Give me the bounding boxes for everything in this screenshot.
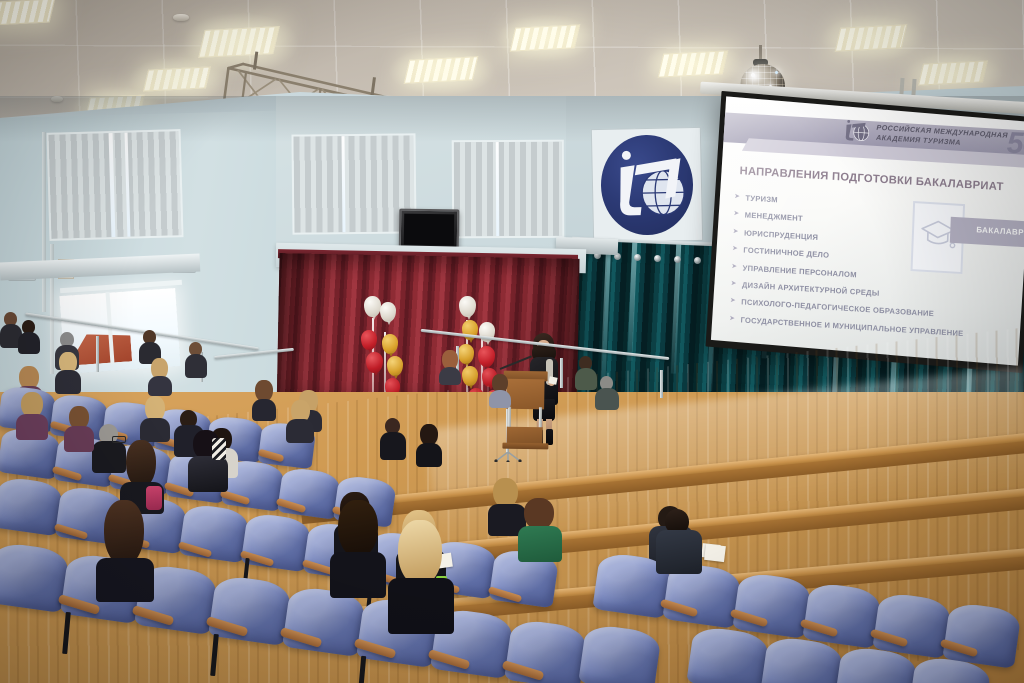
window-blinds-upper-right <box>452 140 565 239</box>
person-body <box>55 370 81 394</box>
person-body <box>188 456 228 492</box>
window-blinds-upper-center <box>291 133 416 234</box>
curtain-grommet <box>654 255 661 262</box>
person-hair <box>104 500 144 566</box>
blind-light-gap <box>496 142 499 236</box>
audience-member <box>252 380 276 418</box>
person-body <box>416 443 442 467</box>
curtain-highlight <box>600 242 611 383</box>
audience-member <box>16 392 48 438</box>
wall-pipe <box>42 132 46 312</box>
audience-member <box>188 430 228 490</box>
railing-post <box>96 336 99 372</box>
balloon-white <box>364 296 381 317</box>
person-body <box>380 432 406 460</box>
slide-surface: РОССИЙСКАЯ МЕЖДУНАРОДНАЯ АКАДЕМИЯ ТУРИЗМ… <box>711 96 1024 365</box>
person-hair <box>398 520 442 586</box>
handout-paper <box>704 544 726 562</box>
audience-member <box>286 400 314 442</box>
curtain-grommet <box>634 254 641 261</box>
balloon-gold <box>462 366 478 386</box>
person-body <box>595 388 619 410</box>
audience-member <box>388 520 454 630</box>
lectern-front-panel <box>506 379 545 410</box>
person-body <box>64 426 94 452</box>
audience-member <box>96 500 154 596</box>
ceiling-light-panel <box>404 56 479 84</box>
smoke-detector-icon <box>173 14 189 21</box>
window-blinds-upper-left <box>47 129 184 241</box>
audience-member <box>55 352 81 392</box>
audience-member-suited <box>656 509 702 571</box>
audience-member <box>575 356 597 390</box>
audience-member <box>380 418 406 460</box>
railing-post <box>660 370 663 398</box>
balloon-white <box>380 302 396 322</box>
ceiling-light-panel <box>510 24 580 51</box>
balloon-red <box>366 352 383 373</box>
person-body <box>575 368 597 390</box>
person-body <box>18 332 40 354</box>
curtain-grommet <box>674 256 681 263</box>
presenter-notes <box>548 376 557 385</box>
mirror-ball-sparkle <box>775 71 778 74</box>
audience-member <box>330 500 386 592</box>
wall-logo-plate <box>591 127 703 243</box>
audience-member <box>595 376 619 410</box>
person-body <box>252 399 276 421</box>
audience-member <box>18 320 40 354</box>
ceiling-light-panel <box>198 26 280 58</box>
balloon-gold <box>382 334 398 354</box>
audience-member <box>518 498 562 560</box>
person-body <box>148 376 172 396</box>
person-body <box>16 414 48 440</box>
audience-member <box>185 342 207 378</box>
person-body <box>388 578 454 634</box>
balloon-red <box>362 374 378 394</box>
audience-member <box>64 406 94 450</box>
striped-sleeve <box>212 438 226 460</box>
slide-program-list: ТУРИЗМ МЕНЕДЖМЕНТ ЮРИСПРУДЕНЦИЯ ГОСТИНИЧ… <box>729 193 1024 350</box>
curtain-highlight <box>671 245 681 374</box>
auditorium-photo: РОССИЙСКАЯ МЕЖДУНАРОДНАЯ АКАДЕМИЯ ТУРИЗМ… <box>0 0 1024 683</box>
projection-screen: РОССИЙСКАЯ МЕЖДУНАРОДНАЯ АКАДЕМИЯ ТУРИЗМ… <box>705 91 1024 373</box>
person-hair <box>338 500 378 558</box>
ceiling-light-panel <box>143 66 211 91</box>
person-body <box>656 530 702 574</box>
lectern-base <box>502 443 548 450</box>
person-body <box>489 390 511 408</box>
slide-anniversary-number: 50 <box>1006 127 1024 163</box>
balloon-white <box>459 296 476 317</box>
audience-member <box>439 350 461 384</box>
vertical-blinds <box>294 135 415 232</box>
audience-member <box>416 424 442 466</box>
ceiling-light-panel <box>658 50 728 77</box>
rmat-emblem-icon <box>600 134 694 236</box>
monitor-screen <box>404 214 454 246</box>
ceiling-light-panel <box>0 0 55 26</box>
person-body <box>518 526 562 562</box>
person-hair <box>126 440 156 488</box>
mirror-ball-sparkle <box>751 73 755 77</box>
vertical-blinds <box>454 142 562 237</box>
audience-member <box>489 374 511 406</box>
balloon-red <box>361 330 377 350</box>
railing-post <box>560 358 563 388</box>
slide-title: НАПРАВЛЕНИЯ ПОДГОТОВКИ БАКАЛАВРИАТ <box>739 165 1024 195</box>
person-body <box>96 558 154 602</box>
audience-member <box>140 396 170 440</box>
person-body <box>140 418 170 442</box>
person-body <box>330 552 386 598</box>
slide-rmat-logo-icon <box>842 119 871 143</box>
curtain-grommet <box>694 257 701 264</box>
person-body <box>286 419 314 443</box>
ceiling-light-panel <box>835 24 908 51</box>
audience-member <box>148 358 172 394</box>
person-body <box>185 354 207 378</box>
ceiling-light-panel <box>918 60 988 85</box>
person-body <box>439 367 461 385</box>
balloon-gold <box>387 356 403 376</box>
